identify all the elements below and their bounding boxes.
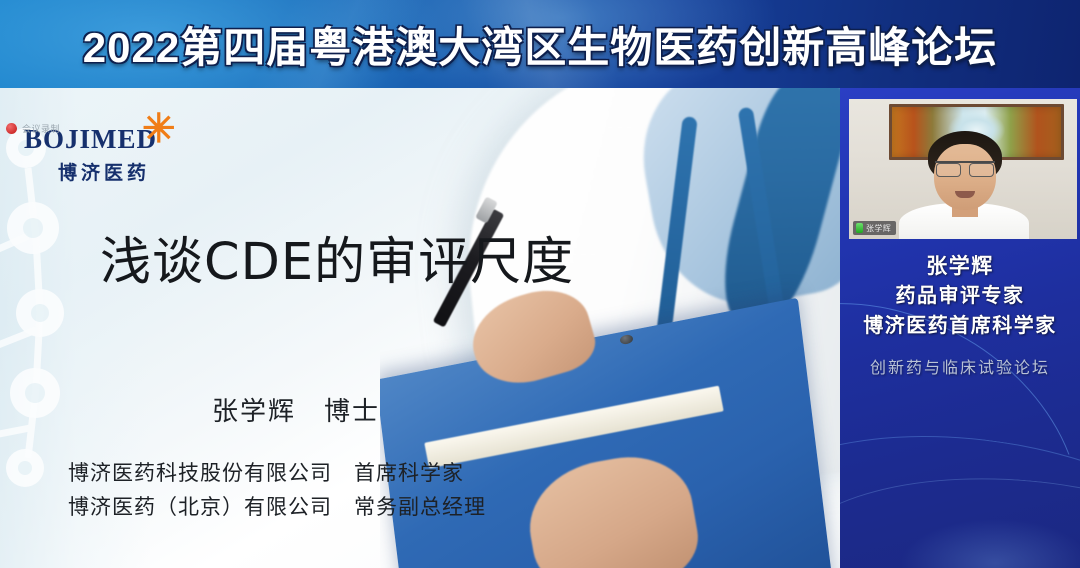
presentation-slide[interactable]: 会议录制 BOJIMED 博济医药 ✳ 浅谈CDE的审评尺度 张学辉 博士 博济… — [0, 88, 840, 568]
speaker-sidebar: 张学辉 张学辉 药品审评专家 博济医药首席科学家 创新药与临床试验论坛 — [840, 88, 1080, 568]
speaker-name: 张学辉 — [840, 251, 1080, 282]
recording-label: 会议录制 — [22, 122, 60, 135]
glow-decoration — [900, 518, 1080, 568]
speaker-role: 药品审评专家 — [840, 282, 1080, 312]
affiliation-line: 博济医药（北京）有限公司 常务副总经理 — [68, 490, 486, 524]
affiliation-line: 博济医药科技股份有限公司 首席科学家 — [68, 456, 486, 490]
logo-chinese-name: 博济医药 — [58, 158, 157, 185]
speaker-face — [934, 144, 996, 210]
forum-name: 创新药与临床试验论坛 — [840, 354, 1080, 378]
speaker-title: 博济医药首席科学家 — [840, 312, 1080, 342]
microphone-icon — [856, 223, 863, 233]
slide-title: 浅谈CDE的审评尺度 — [100, 220, 574, 294]
speaker-video-tile[interactable]: 张学辉 — [849, 99, 1077, 239]
video-participant-name: 张学辉 — [866, 223, 891, 234]
stream-viewport: 2022第四届粤港澳大湾区生物医药创新高峰论坛 — [0, 0, 1080, 568]
glasses-icon — [935, 161, 995, 174]
slide-affiliations: 博济医药科技股份有限公司 首席科学家 博济医药（北京）有限公司 常务副总经理 — [68, 456, 486, 524]
speaker-caption: 张学辉 药品审评专家 博济医药首席科学家 创新药与临床试验论坛 — [840, 251, 1080, 378]
recording-indicator: 会议录制 — [6, 122, 60, 135]
video-name-badge: 张学辉 — [853, 221, 896, 235]
event-title: 2022第四届粤港澳大湾区生物医药创新高峰论坛 — [0, 0, 1080, 88]
slide-presenter-name: 张学辉 博士 — [212, 391, 380, 428]
event-banner: 2022第四届粤港澳大湾区生物医药创新高峰论坛 — [0, 0, 1080, 88]
record-dot-icon — [6, 123, 17, 134]
asterisk-icon: ✳ — [142, 112, 176, 146]
